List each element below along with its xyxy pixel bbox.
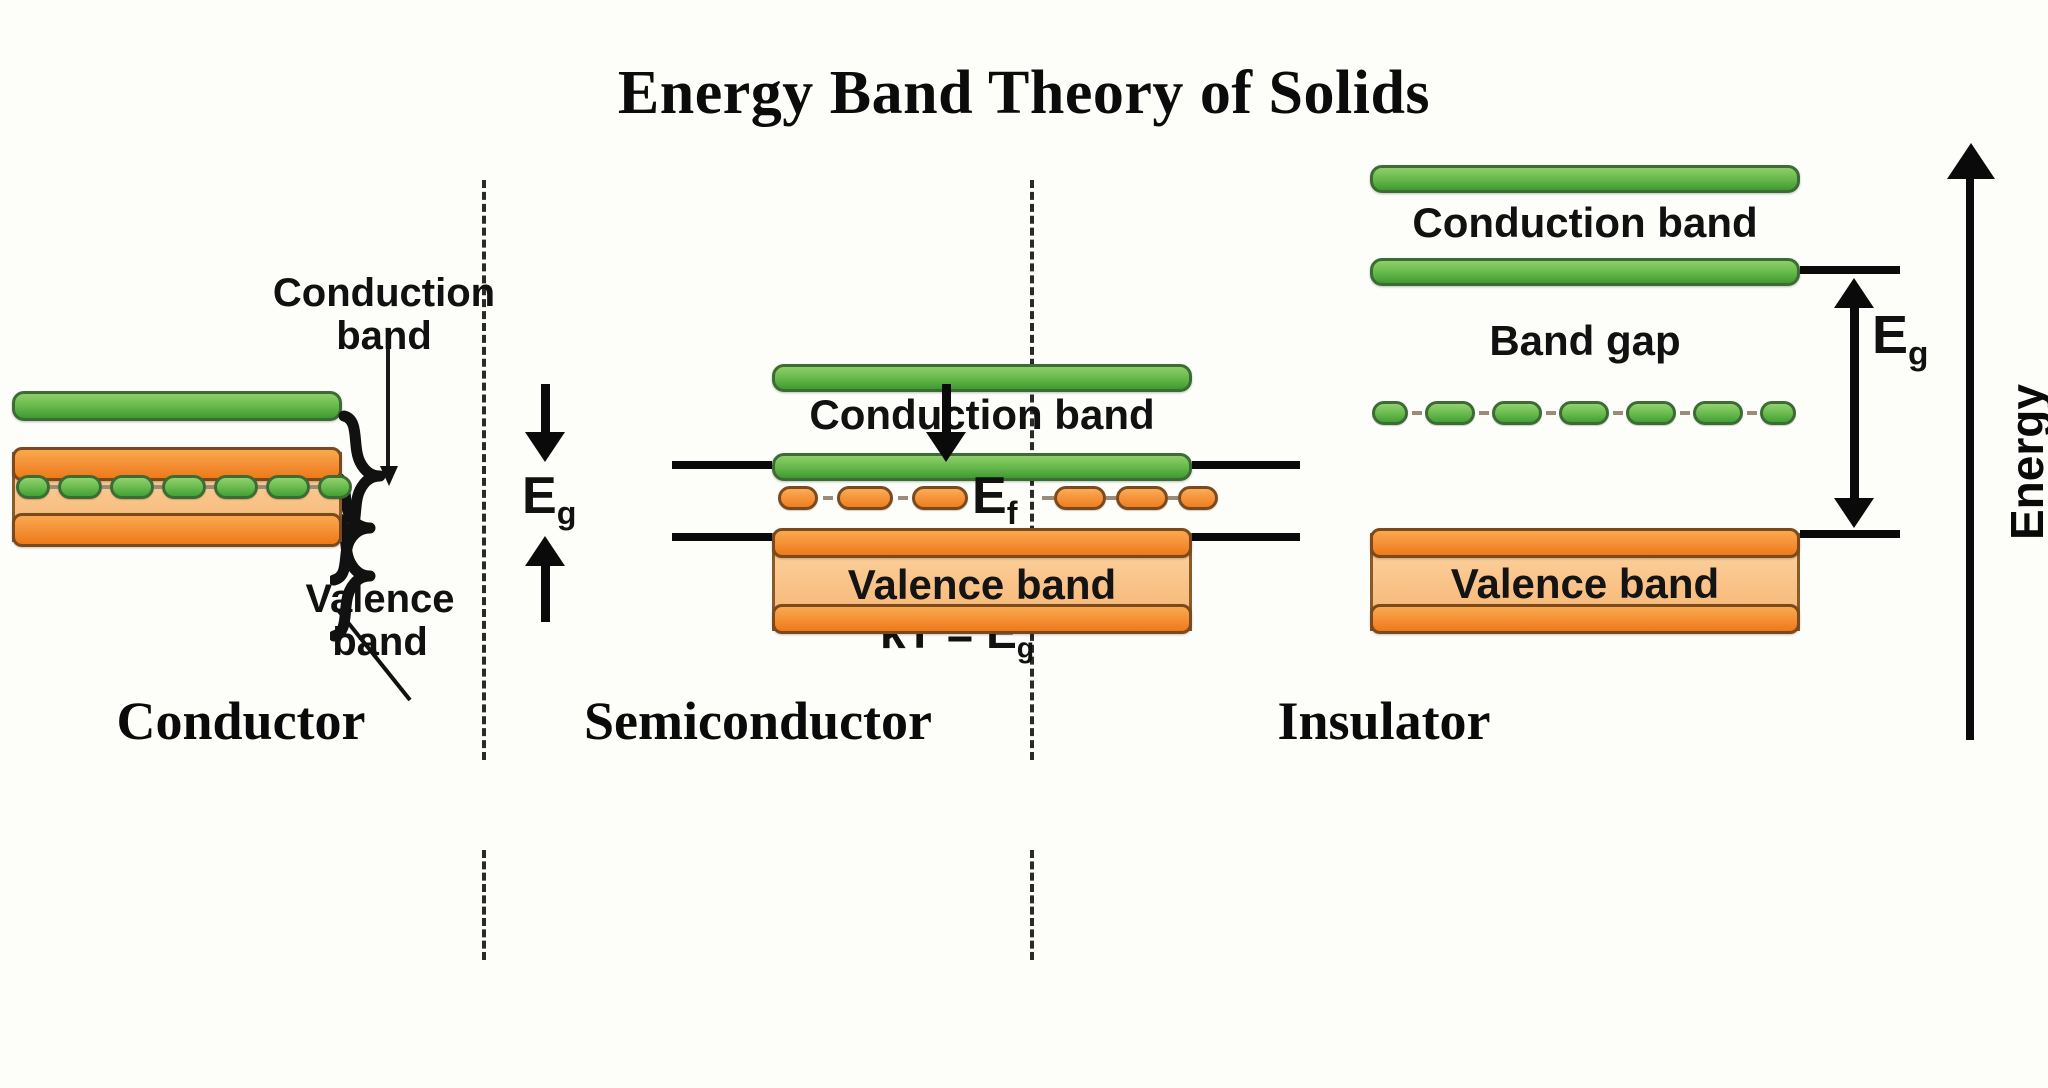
pill (214, 475, 258, 499)
pill (778, 486, 818, 510)
insulator-conduction-lower-bar (1370, 258, 1800, 286)
pill-link (898, 496, 908, 500)
pill-link (1479, 411, 1489, 415)
conductor-valence-band-label: Valence band (246, 578, 514, 664)
pill-link (1613, 411, 1623, 415)
pill (1693, 401, 1743, 425)
caption-semiconductor: Semiconductor (486, 690, 1030, 752)
pill (16, 475, 50, 499)
pill-link (50, 485, 58, 489)
pill-link (154, 485, 162, 489)
semiconductor-eg-bottom-tick-left (672, 533, 772, 541)
conductor-conduction-band-label: Conduction band (250, 272, 518, 358)
energy-axis-arrowhead (1947, 143, 1995, 179)
semiconductor-conduction-band-label: Conduction band (742, 392, 1222, 437)
conductor-conduction-leader-line (386, 346, 390, 478)
caption-conductor: Conductor (0, 690, 482, 752)
pill-link (823, 496, 833, 500)
semiconductor-eg-top-tick-left (672, 461, 772, 469)
pill (837, 486, 893, 510)
pill-link (1106, 496, 1116, 500)
pill (1178, 486, 1218, 510)
insulator-valence-band-label: Valence band (1370, 560, 1800, 608)
semiconductor-valence-top-rail (772, 528, 1192, 558)
insulator-valence-bottom-rail (1370, 604, 1800, 634)
pill (912, 486, 968, 510)
semiconductor-down-arrow-right-head (926, 432, 966, 462)
divider-conductor-semiconductor-lower (482, 850, 486, 960)
pill (266, 475, 310, 499)
insulator-band-gap-label: Band gap (1340, 318, 1830, 363)
pill-link (1168, 496, 1178, 500)
semiconductor-valence-band-label: Valence band (772, 561, 1192, 609)
pill-link (1680, 411, 1690, 415)
pill (1760, 401, 1796, 425)
semiconductor-eg-label: Eg (522, 468, 576, 531)
page-title: Energy Band Theory of Solids (0, 58, 2048, 129)
pill (1559, 401, 1609, 425)
conductor-conduction-band-bar (12, 391, 342, 421)
caption-insulator: Insulator (1034, 690, 1734, 752)
insulator-gap-pill-chain (1372, 400, 1796, 426)
pill (318, 475, 352, 499)
semiconductor-fermi-level-label: Ef (972, 468, 1017, 531)
insulator-conduction-upper-bar (1370, 165, 1800, 193)
conductor-valence-bottom-rail (12, 513, 342, 547)
pill (110, 475, 154, 499)
insulator-valence-top-rail (1370, 528, 1800, 558)
insulator-eg-bottom-tick (1800, 530, 1900, 538)
conductor-conduction-leader-arrow (374, 462, 404, 488)
pill (1425, 401, 1475, 425)
pill (58, 475, 102, 499)
pill (1626, 401, 1676, 425)
insulator-eg-arrow-down-head (1834, 498, 1874, 528)
semiconductor-eg-top-tick-right (1192, 461, 1300, 469)
semiconductor-up-arrow-left-head (525, 536, 565, 566)
pill (1492, 401, 1542, 425)
energy-axis-label: Energy (2000, 384, 2048, 540)
insulator-conduction-band-label: Conduction band (1340, 200, 1830, 245)
semiconductor-fermi-pills-left (778, 485, 968, 511)
pill-link (1412, 411, 1422, 415)
insulator-eg-label: Eg (1872, 306, 1928, 373)
energy-axis-shaft (1966, 176, 1974, 740)
pill-link (310, 485, 318, 489)
semiconductor-down-arrow-left-head (525, 432, 565, 462)
pill (1372, 401, 1408, 425)
insulator-eg-top-tick (1800, 266, 1900, 274)
semiconductor-conduction-upper-bar (772, 364, 1192, 392)
pill (1116, 486, 1168, 510)
divider-semiconductor-insulator-lower (1030, 850, 1034, 960)
insulator-eg-arrow-shaft (1850, 306, 1859, 500)
pill-link (1042, 496, 1054, 500)
pill-link (258, 485, 266, 489)
semiconductor-fermi-pills-right (1042, 485, 1194, 511)
semiconductor-eg-bottom-tick-right (1192, 533, 1300, 541)
pill-link (1747, 411, 1757, 415)
pill (1054, 486, 1106, 510)
conductor-valence-pill-chain (16, 474, 338, 500)
pill-link (102, 485, 110, 489)
insulator-eg-arrow-up-head (1834, 278, 1874, 308)
pill (162, 475, 206, 499)
pill-link (206, 485, 214, 489)
semiconductor-up-arrow-left-shaft (541, 564, 550, 622)
pill-link (1546, 411, 1556, 415)
divider-conductor-semiconductor (482, 180, 486, 760)
diagram-canvas: Energy Band Theory of Solids (0, 0, 2048, 1088)
